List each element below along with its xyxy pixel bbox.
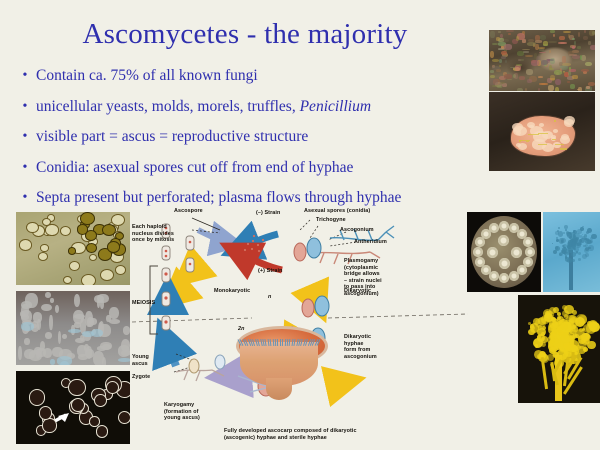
ascus-cross-section-micrograph [467,212,541,292]
presentation-slide: Ascomycetes - the majority • Contain ca.… [0,0,600,450]
label-plus-strain: (+) Strain [258,268,283,275]
penicillium-conidiophore-blue-micrograph [543,212,600,292]
list-item: • Septa present but perforated; plasma f… [14,190,494,206]
label-zygote: Zygote [132,374,150,381]
list-item: • unicellular yeasts, molds, morels, tru… [14,99,494,115]
label-2n-diploid: 2n [238,326,245,333]
list-item-label: Contain ca. 75% of all known fungi [36,68,494,84]
label-young-ascus: Young ascus [132,354,149,367]
peach-cup-fungus-photo [489,92,595,171]
label-dikaryotic: Dikaryotic [344,288,371,295]
list-item-label: Septa present but perforated; plasma flo… [36,190,494,206]
italic-genus-name: Penicillium [300,98,371,115]
label-ascospore: Ascospore [174,208,203,215]
list-item-label: visible part = ascus = reproductive stru… [36,129,494,145]
page-title: Ascomycetes - the majority [0,18,490,51]
label-n-haploid: n [268,294,271,301]
morel-mushroom-photo [489,30,595,91]
label-karyogamy: Karyogamy (formation of young ascus) [164,402,200,422]
list-item: • visible part = ascus = reproductive st… [14,129,494,145]
label-meiosis: MEIOSIS [132,300,155,307]
yeast-cells-light-micrograph [16,212,130,285]
list-item-label: Conidia: asexual spores cut off from end… [36,160,494,176]
label-each-haploid-nucleus: Each haploid nucleus divides once by mit… [132,224,174,244]
label-fully-developed-ascocarp: Fully developed ascocarp composed of dik… [224,428,357,441]
label-trichogyne: Trichogyne [316,217,346,224]
bullet-marker: • [14,129,36,145]
ascomycete-life-cycle-diagram: Ascospore Each haploid nucleus divides o… [132,206,468,448]
ascocarp-cup-illustration [236,326,322,404]
gray-hyphae-micrograph [16,291,130,365]
bullet-marker: • [14,68,36,84]
bullet-marker: • [14,190,36,206]
label-antheridium: Antheridium [354,239,387,246]
list-item-label: unicellular yeasts, molds, morels, truff… [36,99,494,115]
penicillium-sem-yellow-micrograph [518,295,600,403]
bullet-list: • Contain ca. 75% of all known fungi • u… [14,68,494,221]
label-minus-strain: (–) Strain [256,210,280,217]
label-ascogonium: Ascogonium [340,227,374,234]
list-item: • Conidia: asexual spores cut off from e… [14,160,494,176]
bullet-marker: • [14,160,36,176]
darkfield-budding-yeast-photo [16,371,130,444]
label-asexual-spores-conidia: Asexual spores (conidia) [304,208,370,215]
label-monokaryotic: Monokaryotic [214,288,250,295]
label-dikaryotic-hyphae-form: Dikaryotic hyphae form from ascogonium [344,334,377,360]
list-item: • Contain ca. 75% of all known fungi [14,68,494,84]
bullet-marker: • [14,99,36,115]
